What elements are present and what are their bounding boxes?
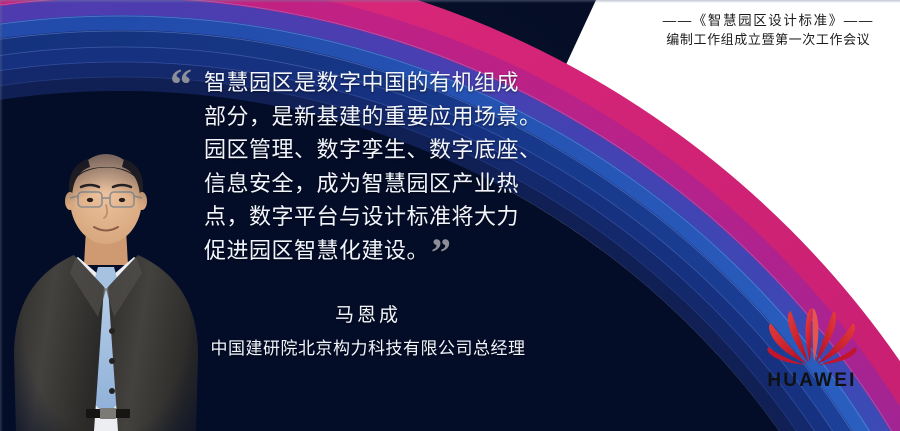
huawei-wordmark: HUAWEI bbox=[756, 370, 868, 392]
event-standard-title: ——《智慧园区设计标准》—— bbox=[663, 12, 874, 31]
quote-line: 信息安全，成为智慧园区产业热 bbox=[204, 167, 570, 201]
speaker-title: 中国建研院北京构力科技有限公司总经理 bbox=[196, 334, 540, 359]
huawei-logo: HUAWEI bbox=[756, 306, 868, 398]
quote-line: 点，数字平台与设计标准将大力 bbox=[204, 200, 570, 234]
huawei-flower-icon bbox=[760, 306, 864, 368]
slide-canvas: ——《智慧园区设计标准》—— 编制工作组成立暨第一次工作会议 “ 智慧园区是数字… bbox=[0, 0, 900, 431]
quote-line: 园区管理、数字孪生、数字底座、 bbox=[204, 133, 570, 167]
event-subtitle: 编制工作组成立暨第一次工作会议 bbox=[663, 31, 874, 49]
event-title-block: ——《智慧园区设计标准》—— 编制工作组成立暨第一次工作会议 bbox=[663, 12, 874, 49]
speaker-name: 马恩成 bbox=[196, 300, 540, 327]
open-quote-icon: “ bbox=[170, 70, 190, 101]
quote-block: “ 智慧园区是数字中国的有机组成 部分，是新基建的重要应用场景。 园区管理、数字… bbox=[170, 66, 570, 267]
quote-text: 智慧园区是数字中国的有机组成 部分，是新基建的重要应用场景。 园区管理、数字孪生… bbox=[204, 66, 570, 267]
quote-line: 智慧园区是数字中国的有机组成 bbox=[204, 66, 570, 100]
quote-line-last: 促进园区智慧化建设。” bbox=[204, 234, 570, 268]
quote-line: 促进园区智慧化建设。 bbox=[204, 238, 429, 263]
quote-line: 部分，是新基建的重要应用场景。 bbox=[204, 100, 570, 134]
attribution-block: 马恩成 中国建研院北京构力科技有限公司总经理 bbox=[196, 300, 540, 359]
